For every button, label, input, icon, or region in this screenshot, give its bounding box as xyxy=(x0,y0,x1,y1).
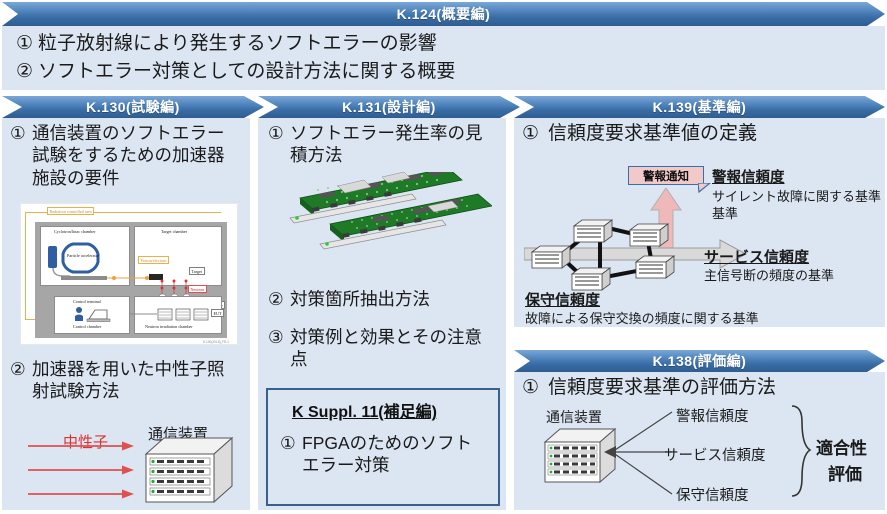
k139-item-1-text: 信頼度要求基準値の定義 xyxy=(548,122,757,146)
k131-item-1: ①ソフトエラー発生率の見積方法 xyxy=(268,122,502,167)
diagram-canvas: K.124(概要編) ①粒子放射線により発生するソフトエラーの影響 ②ソフトエラ… xyxy=(0,0,887,514)
service-reliability-name: サービス信頼度 xyxy=(704,246,809,267)
header-k131: K.131(設計編) xyxy=(258,96,520,118)
k-suppl-item-1-text: FPGAのためのソフトエラー対策 xyxy=(302,432,484,477)
k131-item-3-text: 対策例と効果とその注意点 xyxy=(290,326,492,371)
evaluation-metric-2: サービス信頼度 xyxy=(664,444,766,465)
k130-item-2-text: 加速器を用いた中性子照射試験方法 xyxy=(32,358,238,403)
overview-item-1: ①粒子放射線により発生するソフトエラーの影響 xyxy=(16,32,876,56)
k131-item-1-text: ソフトエラー発生率の見積方法 xyxy=(290,122,492,167)
header-k139: K.139(基準編) xyxy=(514,96,885,118)
evaluation-metric-1: 警報信頼度 xyxy=(676,405,749,426)
header-k130-label: K.130(試験編) xyxy=(86,97,180,117)
target-room-label: Target chamber xyxy=(161,229,187,234)
target-label: Target xyxy=(189,267,205,275)
k131-item-2-text: 対策箇所抽出方法 xyxy=(290,288,492,310)
control-terminal-icon xyxy=(73,305,121,325)
radiation-area-label: Radiation controlled area xyxy=(47,207,94,215)
particle-accelerator-label: Particle accelerator xyxy=(67,254,99,259)
overview-item-1-number: ① xyxy=(16,32,38,56)
communication-equipment-icon xyxy=(140,432,240,510)
k139-item-1: ①信頼度要求基準値の定義 xyxy=(522,122,882,146)
proton-electron-label: Proton/electron xyxy=(138,256,169,264)
service-reliability-desc: 主信号断の頻度の基準 xyxy=(704,265,834,284)
evaluation-brace-icon xyxy=(788,400,812,506)
eut-label: EUT xyxy=(211,309,224,317)
maintenance-reliability-name: 保守信頼度 xyxy=(525,289,600,310)
pcb-boards-illustration xyxy=(282,172,492,284)
accelerator-facility-figure: Radiation controlled area Cyclotron/lina… xyxy=(20,203,238,345)
facility-figure-credit: K.130(2016)_F8-1 xyxy=(203,340,229,344)
control-terminal-label: Control terminal xyxy=(73,299,101,304)
k131-item-2-number: ② xyxy=(268,288,290,310)
k138-item-1: ①信頼度要求基準の評価方法 xyxy=(522,376,882,400)
k131-item-2: ②対策箇所抽出方法 xyxy=(268,288,502,310)
header-k139-label: K.139(基準編) xyxy=(653,97,747,117)
header-k131-label: K.131(設計編) xyxy=(342,97,436,117)
k138-item-1-number: ① xyxy=(522,376,548,400)
alarm-notification-callout: 警報通知 xyxy=(628,166,704,185)
k130-item-2-number: ② xyxy=(10,358,32,380)
k130-item-2: ②加速器を用いた中性子照射試験方法 xyxy=(10,358,250,403)
k131-item-1-number: ① xyxy=(268,122,290,144)
overview-item-2: ②ソフトエラー対策としての設計方法に関する概要 xyxy=(16,60,876,84)
k-suppl-item-1: ①FPGAのためのソフトエラー対策 xyxy=(280,432,494,477)
k130-item-1-number: ① xyxy=(10,122,32,144)
k131-item-3-number: ③ xyxy=(268,326,290,348)
alarm-reliability-name: 警報信頼度 xyxy=(712,166,785,187)
neutron-beam-arrows xyxy=(24,440,139,502)
header-k130: K.130(試験編) xyxy=(2,96,264,118)
maintenance-reliability-desc: 故障による保守交換の頻度に関する基準 xyxy=(525,308,759,327)
k131-item-3: ③対策例と効果とその注意点 xyxy=(268,326,502,371)
k130-item-1: ①通信装置のソフトエラー試験をするための加速器施設の要件 xyxy=(10,122,250,189)
alarm-notification-callout-label: 警報通知 xyxy=(643,168,689,184)
k139-item-1-number: ① xyxy=(522,122,548,146)
overview-item-1-text: 粒子放射線により発生するソフトエラーの影響 xyxy=(38,32,437,56)
header-k138-label: K.138(評価編) xyxy=(653,351,747,371)
header-k124-label: K.124(概要編) xyxy=(397,4,491,24)
overview-item-2-number: ② xyxy=(16,60,38,84)
header-k138: K.138(評価編) xyxy=(514,350,885,372)
control-chamber-label: Control chamber xyxy=(73,324,101,329)
evaluation-metric-3: 保守信頼度 xyxy=(676,484,749,505)
overview-item-2-text: ソフトエラー対策としての設計方法に関する概要 xyxy=(38,60,455,84)
evaluation-result-line1: 適合性 xyxy=(816,434,867,459)
k130-item-1-text: 通信装置のソフトエラー試験をするための加速器施設の要件 xyxy=(32,122,238,189)
k138-item-1-text: 信頼度要求基準の評価方法 xyxy=(548,376,776,400)
k-suppl-11-title: K Suppl. 11(補足編) xyxy=(292,398,437,422)
k-suppl-item-1-number: ① xyxy=(280,432,302,454)
evaluation-result-line2: 評価 xyxy=(828,460,862,485)
header-k124: K.124(概要編) xyxy=(2,2,885,26)
